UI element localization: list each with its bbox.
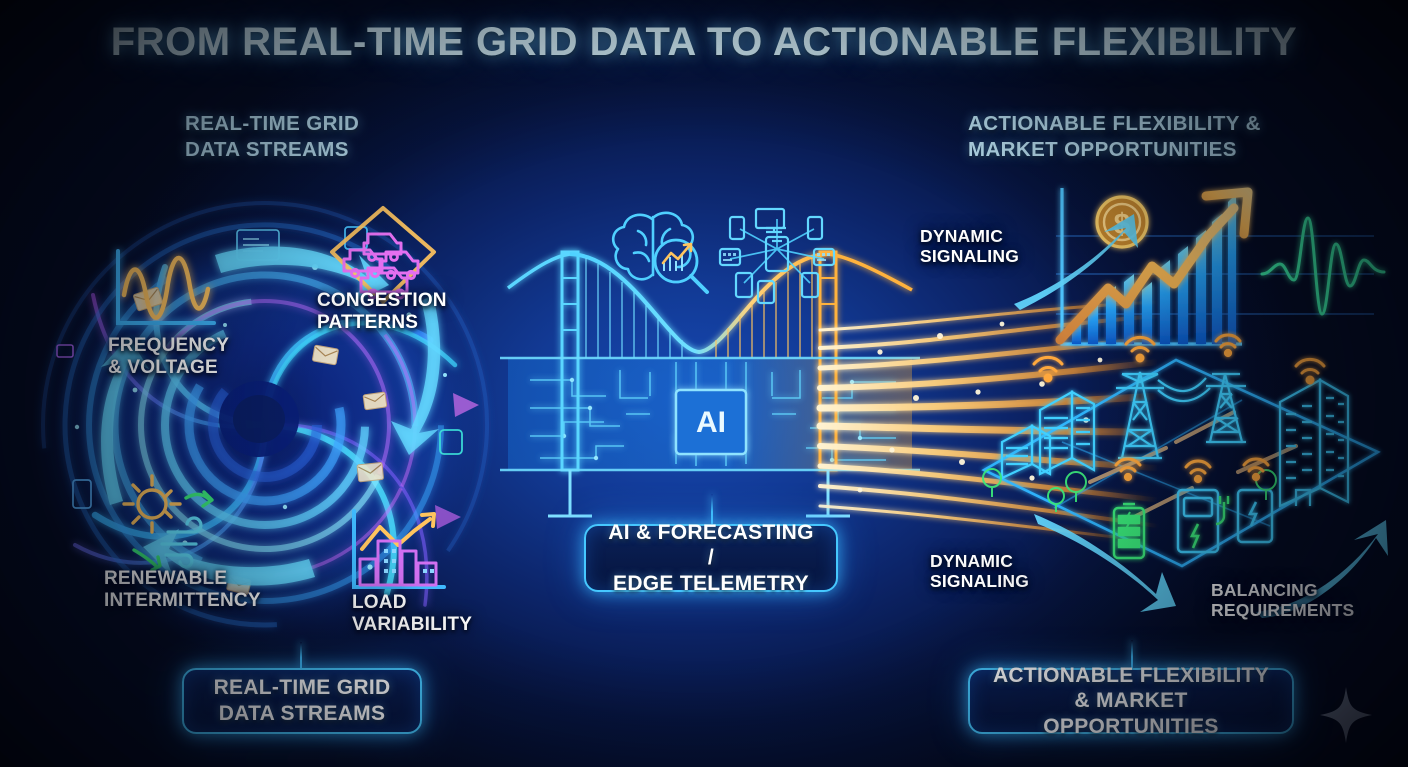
city-buildings-icon (1002, 392, 1094, 478)
section-heading-left: REAL-TIME GRID DATA STREAMS (185, 111, 359, 163)
label-dynamic-signaling-top-line2: SIGNALING (920, 246, 1019, 266)
label-congestion-patterns: CONGESTION PATTERNS (317, 290, 447, 334)
waveform-icon (104, 243, 222, 335)
callout-right-line1: ACTIONABLE FLEXIBILITY (988, 663, 1274, 689)
label-dynamic-signaling-bottom-line2: SIGNALING (930, 571, 1029, 591)
section-heading-left-line2: DATA STREAMS (185, 137, 359, 163)
label-frequency-voltage-line1: FREQUENCY (108, 335, 229, 357)
ecg-waveform-icon (1262, 218, 1384, 314)
label-dynamic-signaling-bottom-line1: DYNAMIC (930, 551, 1029, 571)
callout-real-time-grid-data-streams[interactable]: REAL-TIME GRID DATA STREAMS (182, 668, 422, 734)
label-balancing-requirements: BALANCING REQUIREMENTS (1211, 580, 1354, 621)
label-renewable-intermittency: RENEWABLE INTERMITTENCY (104, 568, 261, 612)
leader-line-left (300, 642, 302, 668)
dynamic-signaling-arrow-bottom (1030, 508, 1190, 618)
callout-actionable-flexibility-market-opportunities[interactable]: ACTIONABLE FLEXIBILITY & MARKET OPPORTUN… (968, 668, 1294, 734)
label-frequency-voltage-line2: & VOLTAGE (108, 357, 229, 379)
infographic-canvas: AI (0, 0, 1408, 767)
label-load-variability-line2: VARIABILITY (352, 614, 472, 636)
callout-left-line1: REAL-TIME GRID (214, 675, 391, 701)
callout-left-line2: DATA STREAMS (214, 701, 391, 727)
callout-center-line2: EDGE TELEMETRY (604, 571, 818, 597)
dynamic-signaling-arrow-top (1010, 212, 1150, 312)
section-heading-left-line1: REAL-TIME GRID (185, 111, 359, 137)
sparkle-icon (1320, 687, 1372, 743)
section-heading-right-line2: MARKET OPPORTUNITIES (968, 137, 1261, 163)
label-balancing-requirements-line2: REQUIREMENTS (1211, 600, 1354, 620)
ai-chip-label: AI (696, 406, 726, 439)
label-renewable-intermittency-line2: INTERMITTENCY (104, 590, 261, 612)
page-title: FROM REAL-TIME GRID DATA TO ACTIONABLE F… (0, 20, 1408, 65)
label-congestion-patterns-line1: CONGESTION (317, 290, 447, 312)
callout-ai-forecasting-edge-telemetry[interactable]: AI & FORECASTING / EDGE TELEMETRY (584, 524, 838, 592)
label-balancing-requirements-line1: BALANCING (1211, 580, 1354, 600)
label-dynamic-signaling-bottom: DYNAMIC SIGNALING (930, 551, 1029, 592)
label-frequency-voltage: FREQUENCY & VOLTAGE (108, 335, 229, 379)
label-congestion-patterns-line2: PATTERNS (317, 312, 447, 334)
callout-center-line1: AI & FORECASTING / (604, 520, 818, 571)
sun-wind-icon (112, 462, 234, 570)
label-load-variability: LOAD VARIABILITY (352, 592, 472, 636)
label-dynamic-signaling-top-line1: DYNAMIC (920, 226, 1019, 246)
label-renewable-intermittency-line1: RENEWABLE (104, 568, 261, 590)
callout-right-line2: & MARKET OPPORTUNITIES (988, 688, 1274, 739)
iot-network-icon (718, 205, 836, 305)
section-heading-right-line1: ACTIONABLE FLEXIBILITY & (968, 111, 1261, 137)
brain-magnifier-icon (608, 205, 718, 301)
section-heading-right: ACTIONABLE FLEXIBILITY & MARKET OPPORTUN… (968, 111, 1261, 163)
label-load-variability-line1: LOAD (352, 592, 472, 614)
load-chart-icon (344, 505, 452, 597)
label-dynamic-signaling-top: DYNAMIC SIGNALING (920, 226, 1019, 267)
